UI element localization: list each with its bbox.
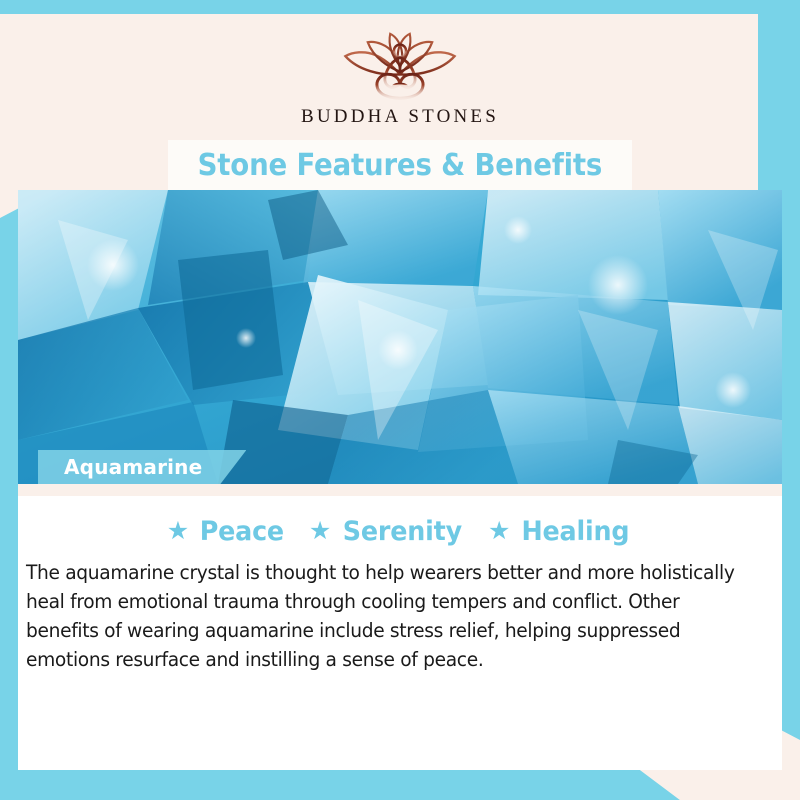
- keyword-list: ★ Peace ★ Serenity ★ Healing: [0, 516, 800, 547]
- page-title: Stone Features & Benefits: [198, 148, 603, 183]
- infographic-page: BUDDHA STONES Stone Features & Benefits: [0, 0, 800, 800]
- star-icon: ★: [167, 519, 189, 544]
- photo-panel-divider: [18, 484, 782, 496]
- brand-header: BUDDHA STONES: [0, 14, 800, 140]
- lotus-meditation-icon: [330, 24, 470, 102]
- keyword-label: Peace: [200, 516, 284, 547]
- stone-name: Aquamarine: [64, 455, 202, 479]
- stone-description: The aquamarine crystal is thought to hel…: [26, 558, 742, 674]
- section-title-box: Stone Features & Benefits: [168, 140, 632, 190]
- keyword-label: Healing: [522, 516, 630, 547]
- keyword-item-serenity: ★ Serenity: [309, 516, 466, 547]
- crystal-photo: [18, 190, 782, 484]
- keyword-item-healing: ★ Healing: [488, 516, 633, 547]
- keyword-item-peace: ★ Peace: [167, 516, 287, 547]
- keyword-label: Serenity: [343, 516, 462, 547]
- stone-name-banner: Aquamarine: [38, 450, 246, 484]
- star-icon: ★: [309, 519, 331, 544]
- star-icon: ★: [488, 519, 510, 544]
- top-accent-band: [0, 0, 800, 14]
- brand-name: BUDDHA STONES: [301, 106, 499, 128]
